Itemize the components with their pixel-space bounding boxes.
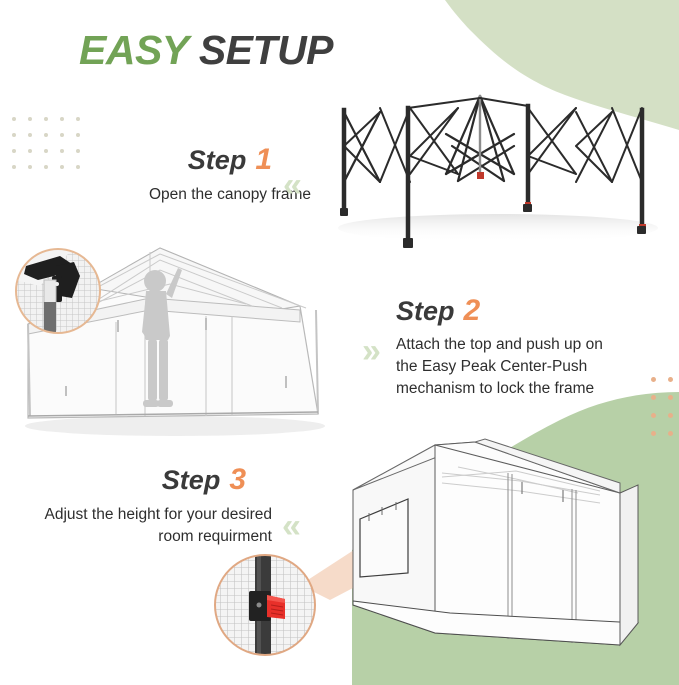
title-word-setup: SETUP — [199, 27, 333, 73]
chevron-left-icon-3: « — [282, 509, 301, 543]
figure-greenhouse-assembled-3q — [320, 437, 679, 670]
step-2-heading: Step2 — [396, 296, 646, 326]
poster-canvas: EASY SETUP Step1 Open the canopy frame « — [0, 0, 679, 685]
step-3-block: Step3 Adjust the height for your desired… — [12, 465, 272, 548]
step-3-body-line-2: room requirment — [12, 526, 272, 548]
step-3-number: 3 — [229, 463, 246, 496]
step-1-body: Open the canopy frame — [86, 184, 311, 206]
dot-grid-right — [645, 371, 679, 443]
title-word-easy: EASY — [79, 27, 188, 73]
figure-greenhouse-front-with-person — [0, 236, 355, 448]
chevron-right-icon-2: » — [362, 334, 381, 368]
step-3-body-line-1: Adjust the height for your desired — [12, 504, 272, 526]
frame-shadow — [338, 214, 658, 242]
figure-canopy-frame-skeleton — [318, 86, 668, 256]
step-1-heading: Step1 — [86, 145, 272, 175]
step-1-number: 1 — [255, 143, 272, 176]
inset-peak-center-push — [16, 249, 100, 333]
chevron-left-icon-1: « — [283, 168, 302, 202]
page-title: EASY SETUP — [79, 30, 333, 71]
step-2-body-line-2: the Easy Peak Center-Push — [396, 356, 646, 378]
step-2-body-line-3: mechanism to lock the frame — [396, 378, 646, 400]
step-2-body-line-1: Attach the top and push up on — [396, 334, 646, 356]
step-2-body: Attach the top and push up on the Easy P… — [396, 334, 646, 400]
greenhouse-3q-body — [353, 439, 638, 645]
step-1-label: Step — [188, 145, 247, 175]
step-2-block: Step2 Attach the top and push up on the … — [396, 296, 646, 400]
greenhouse-shadow — [25, 416, 325, 436]
step-3-heading: Step3 — [12, 465, 246, 495]
dot-grid-left — [6, 111, 86, 175]
step-1-block: Step1 Open the canopy frame — [86, 145, 311, 206]
step-2-label: Step — [396, 296, 455, 326]
step-2-number: 2 — [464, 294, 481, 327]
step-3-label: Step — [162, 465, 221, 495]
step-3-body: Adjust the height for your desired room … — [12, 504, 272, 548]
inset-height-adjust-lever — [213, 553, 317, 657]
